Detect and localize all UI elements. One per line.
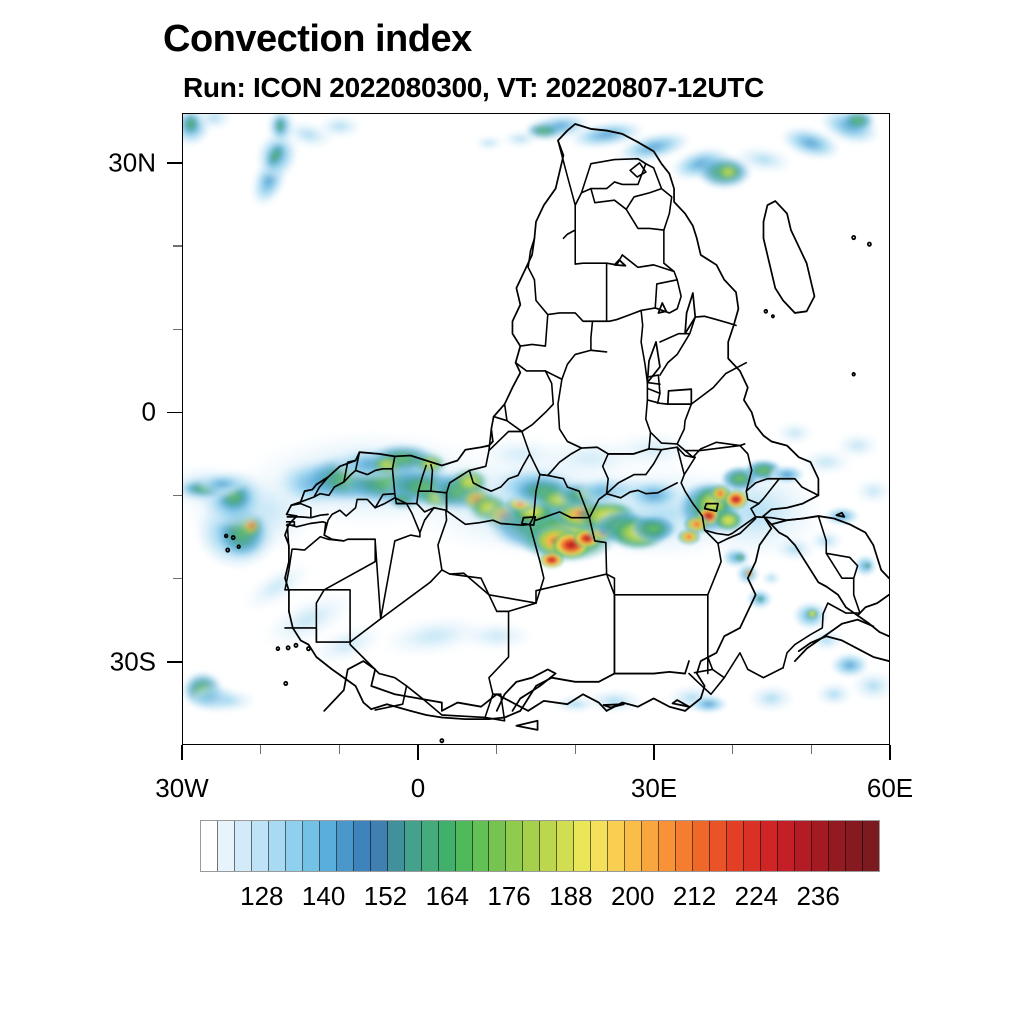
colorbar-segment [269,821,286,871]
colorbar-segment [642,821,659,871]
colorbar-segment [456,821,473,871]
x-axis-tick [889,745,891,760]
colorbar-segment [727,821,744,871]
x-axis-minor-tick [732,745,733,754]
colorbar-segment [795,821,812,871]
colorbar-segment [863,821,879,871]
colorbar-segment [252,821,269,871]
colorbar-segment [761,821,778,871]
africa-convection-map [183,114,889,744]
x-axis-minor-tick [496,745,497,754]
colorbar-tick-label: 236 [796,881,839,912]
y-axis-label: 0 [0,397,156,428]
colorbar-segment [303,821,320,871]
colorbar-tick-label: 152 [364,881,407,912]
colorbar-segment [422,821,439,871]
colorbar-tick-label: 212 [673,881,716,912]
run-validtime-subtitle: Run: ICON 2022080300, VT: 20220807-12UTC [183,72,764,104]
colorbar-segment [625,821,642,871]
colorbar-tick-label: 128 [240,881,283,912]
colorbar-segment [591,821,608,871]
y-axis-minor-tick [173,578,182,579]
colorbar-segment [235,821,252,871]
x-axis-tick [653,745,655,760]
x-axis-label: 30E [631,773,677,804]
colorbar-segment [489,821,506,871]
colorbar-segment [439,821,456,871]
colorbar-segment [218,821,235,871]
x-axis-minor-tick [575,745,576,754]
colorbar[interactable] [200,820,880,872]
colorbar-segment [371,821,388,871]
colorbar-tick-label: 224 [735,881,778,912]
colorbar-segment [608,821,625,871]
y-axis-label: 30N [0,147,156,178]
colorbar-segment [320,821,337,871]
colorbar-segment [506,821,523,871]
x-axis-tick [181,745,183,760]
colorbar-segment [337,821,354,871]
colorbar-segment [557,821,574,871]
x-axis-label: 60E [867,773,913,804]
colorbar-segment [693,821,710,871]
y-axis-tick [167,412,182,414]
colorbar-segment [388,821,405,871]
colorbar-segment [201,821,218,871]
y-axis-tick [167,162,182,164]
colorbar-segment [540,821,557,871]
colorbar-segment [473,821,490,871]
colorbar-segment [744,821,761,871]
colorbar-tick-label: 176 [487,881,530,912]
map-plot-area[interactable] [182,113,890,745]
colorbar-segment [523,821,540,871]
y-axis-label: 30S [0,646,156,677]
colorbar-tick-label: 200 [611,881,654,912]
y-axis-minor-tick [173,329,182,330]
x-axis-label: 30W [155,773,208,804]
colorbar-segment [812,821,829,871]
x-axis-minor-tick [260,745,261,754]
colorbar-segment [574,821,591,871]
colorbar-segment [659,821,676,871]
colorbar-segment [286,821,303,871]
x-axis-minor-tick [339,745,340,754]
colorbar-segment [354,821,371,871]
y-axis-tick [167,661,182,663]
colorbar-segment [405,821,422,871]
colorbar-segment [676,821,693,871]
x-axis-tick [417,745,419,760]
y-axis-minor-tick [173,245,182,246]
colorbar-segment [778,821,795,871]
colorbar-tick-label: 164 [426,881,469,912]
x-axis-minor-tick [811,745,812,754]
colorbar-segment [710,821,727,871]
x-axis-label: 0 [411,773,425,804]
colorbar-tick-label: 140 [302,881,345,912]
colorbar-segment [846,821,863,871]
colorbar-segment [829,821,846,871]
colorbar-tick-label: 188 [549,881,592,912]
y-axis-minor-tick [173,495,182,496]
page-title: Convection index [163,18,472,61]
